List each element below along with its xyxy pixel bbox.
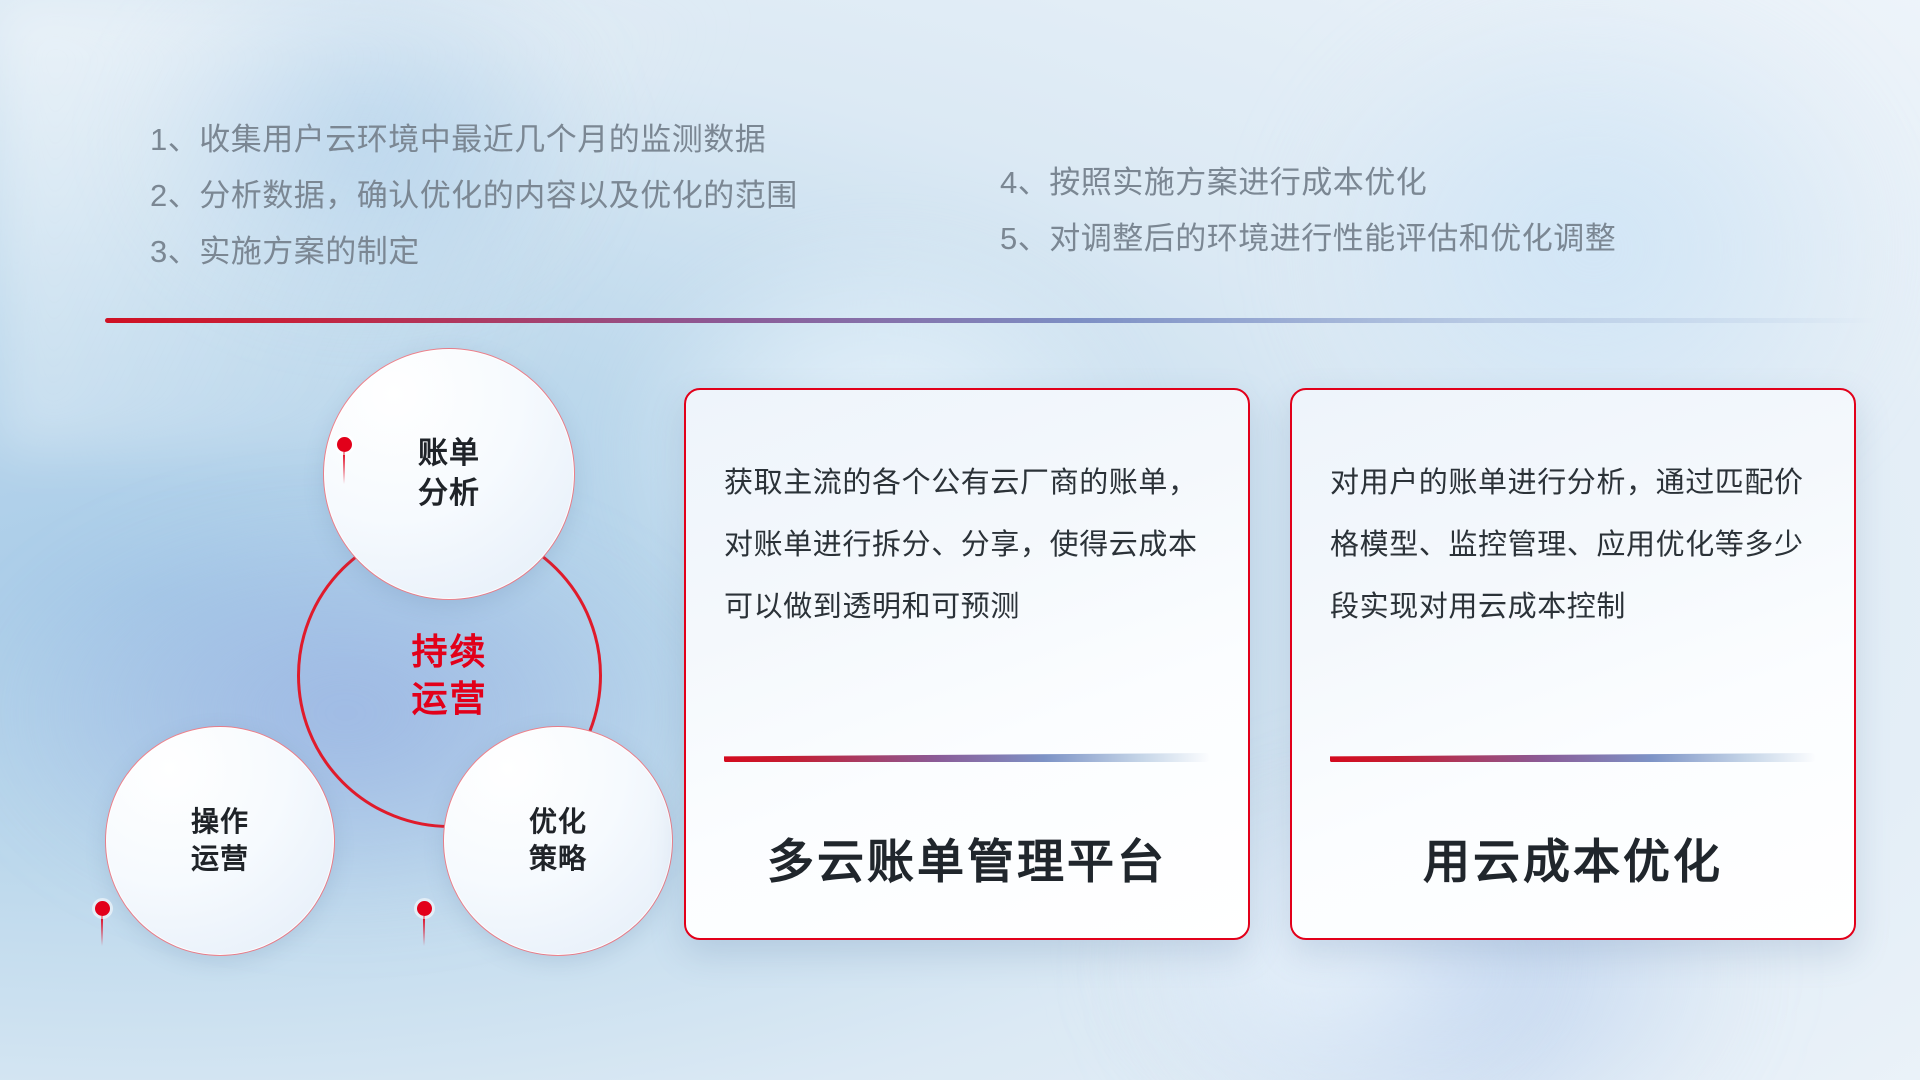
card-2-divider [1330, 753, 1816, 762]
card-1-body-text: 获取主流的各个公有云厂商的账单，对账单进行拆分、分享，使得云成本可以做到透明和可… [686, 390, 1248, 638]
bubble-left-line2: 运营 [191, 841, 249, 878]
feature-card-cloud-cost-optimization[interactable]: 对用户的账单进行分析，通过匹配价格模型、监控管理、应用优化等多少段实现对用云成本… [1290, 388, 1856, 940]
diagram-bubble-billing-analysis[interactable]: 账单 分析 [323, 348, 575, 600]
bubble-right-line1: 优化 [529, 804, 587, 841]
step-item-1: 1、收集用户云环境中最近几个月的监测数据 [150, 112, 910, 168]
diagram-node-dot-right [417, 901, 432, 916]
bubble-top-line1: 账单 [418, 434, 480, 474]
section-divider [105, 318, 1877, 323]
diagram-connector-top-stem [343, 452, 345, 484]
diagram-node-dot-left [95, 901, 110, 916]
diagram-bubble-optimization-strategy[interactable]: 优化 策略 [443, 726, 673, 956]
center-label-line2: 运营 [411, 676, 487, 722]
card-1-title: 多云账单管理平台 [686, 823, 1248, 892]
diagram-bubble-operations[interactable]: 操作 运营 [105, 726, 335, 956]
slide-stage: 1、收集用户云环境中最近几个月的监测数据 2、分析数据，确认优化的内容以及优化的… [0, 0, 1920, 1080]
feature-card-multi-cloud-billing[interactable]: 获取主流的各个公有云厂商的账单，对账单进行拆分、分享，使得云成本可以做到透明和可… [684, 388, 1250, 940]
step-item-3: 3、实施方案的制定 [150, 224, 910, 280]
diagram-connector-left-stem [101, 916, 103, 946]
step-item-4: 4、按照实施方案进行成本优化 [1000, 155, 1760, 211]
diagram-connector-right-stem [423, 916, 425, 946]
card-2-title: 用云成本优化 [1292, 823, 1854, 892]
card-1-divider [724, 753, 1210, 762]
bubble-top-line2: 分析 [418, 474, 480, 514]
step-item-5: 5、对调整后的环境进行性能评估和优化调整 [1000, 211, 1760, 267]
step-list-right: 4、按照实施方案进行成本优化 5、对调整后的环境进行性能评估和优化调整 [1000, 155, 1760, 267]
center-label-line1: 持续 [411, 629, 487, 675]
continuous-operation-diagram: 持续 运营 账单 分析 操作 运营 优化 策略 [105, 348, 625, 968]
bubble-left-line1: 操作 [191, 804, 249, 841]
step-item-2: 2、分析数据，确认优化的内容以及优化的范围 [150, 168, 910, 224]
diagram-node-dot-top [337, 437, 352, 452]
bubble-right-line2: 策略 [529, 841, 587, 878]
step-list-left: 1、收集用户云环境中最近几个月的监测数据 2、分析数据，确认优化的内容以及优化的… [150, 112, 910, 280]
card-2-body-text: 对用户的账单进行分析，通过匹配价格模型、监控管理、应用优化等多少段实现对用云成本… [1292, 390, 1854, 638]
